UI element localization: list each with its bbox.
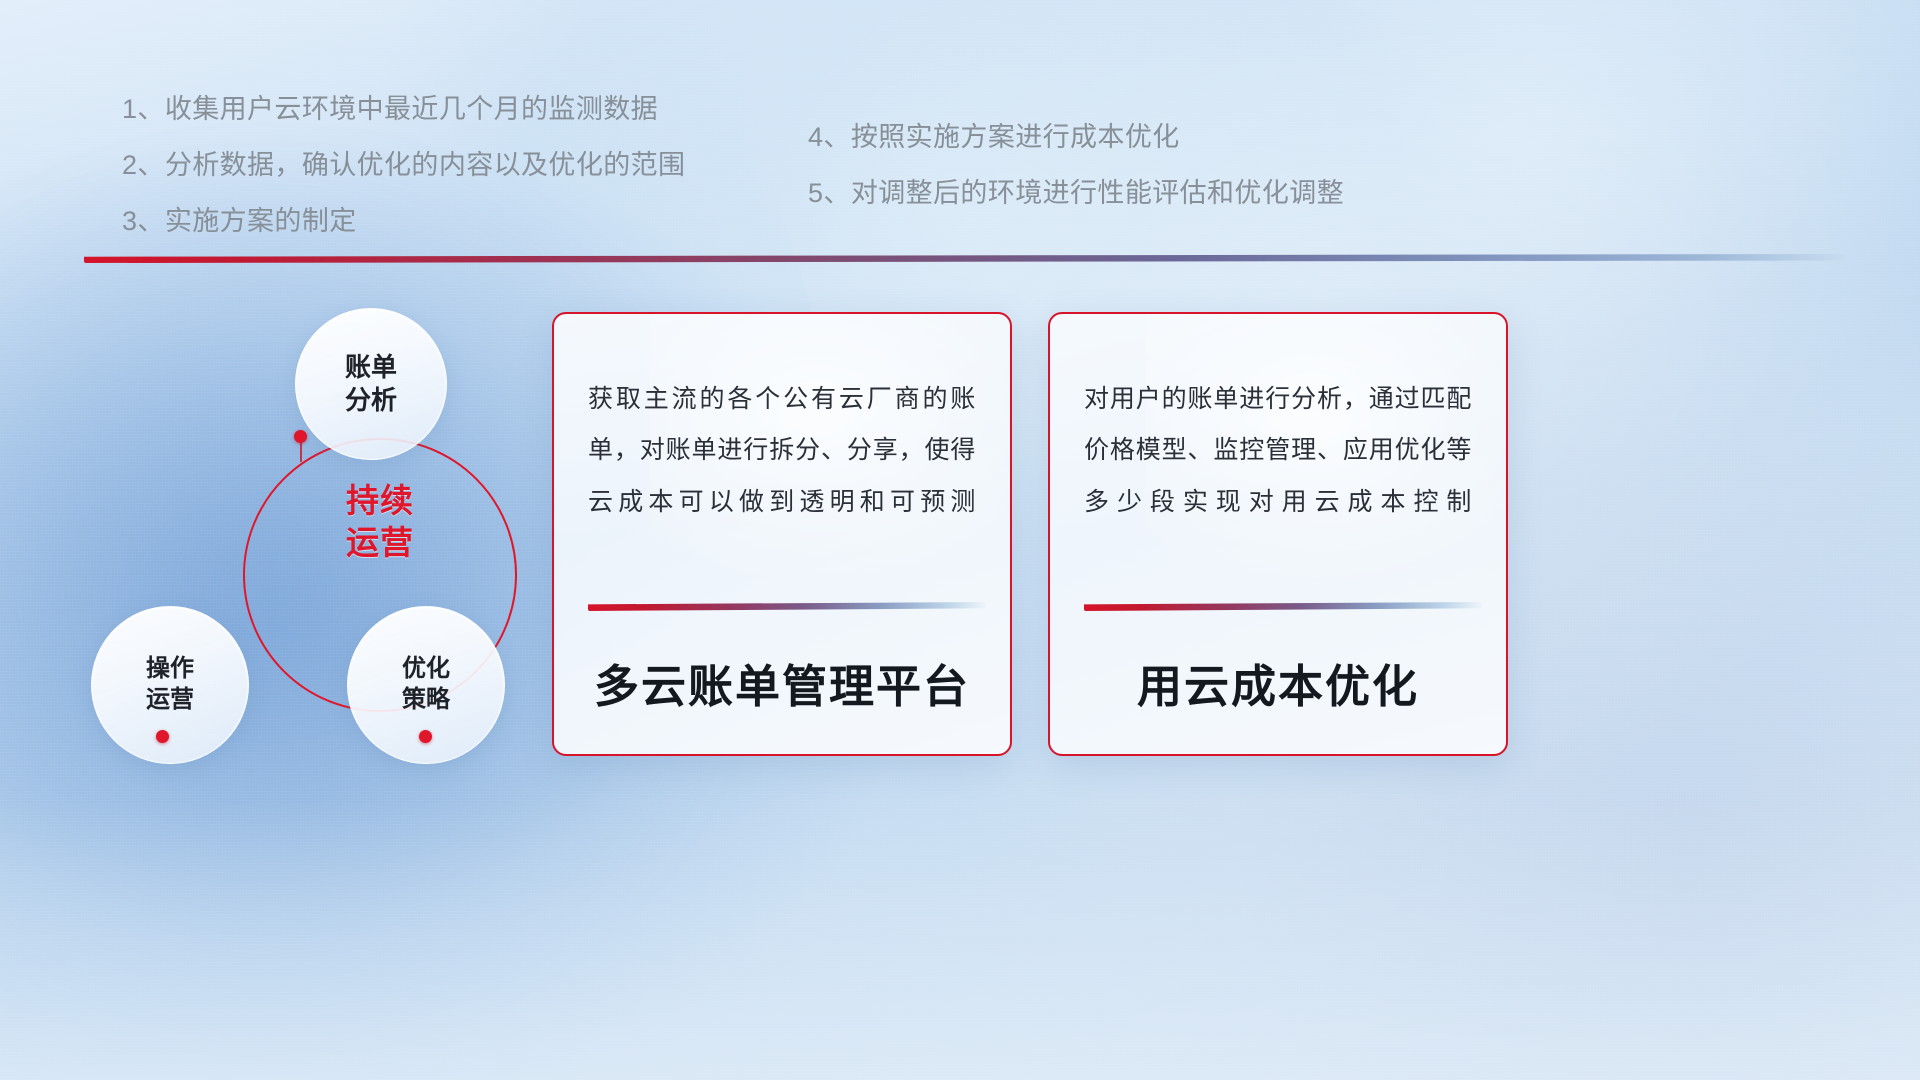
step-item: 3、实施方案的制定 [122, 208, 685, 235]
node-label-line-2: 运营 [146, 685, 194, 716]
node-label-line-1: 操作 [146, 654, 194, 685]
steps-list-left: 1、收集用户云环境中最近几个月的监测数据 2、分析数据，确认优化的内容以及优化的… [122, 96, 685, 264]
node-label-line-2: 策略 [402, 685, 450, 716]
diagram-dot-bottom-right [419, 730, 432, 743]
diagram-center-label: 持续 运营 [243, 480, 517, 564]
diagram-node-bill-analysis[interactable]: 账单 分析 [295, 308, 447, 460]
node-label-line-1: 优化 [402, 654, 450, 685]
diagram-node-operations[interactable]: 操作 运营 [91, 606, 249, 764]
node-label-line-1: 账单 [345, 351, 397, 384]
continuous-operation-diagram: 持续 运营 账单 分析 操作 运营 优化 策略 [80, 290, 550, 770]
step-item: 2、分析数据，确认优化的内容以及优化的范围 [122, 152, 685, 179]
step-item: 5、对调整后的环境进行性能评估和优化调整 [808, 180, 1344, 207]
diagram-connector-top [300, 440, 302, 462]
step-item: 1、收集用户云环境中最近几个月的监测数据 [122, 96, 685, 123]
center-label-line-1: 持续 [243, 480, 517, 522]
steps-list-right: 4、按照实施方案进行成本优化 5、对调整后的环境进行性能评估和优化调整 [808, 124, 1344, 236]
card-cloud-cost-optimization[interactable]: 对用户的账单进行分析，通过匹配价格模型、监控管理、应用优化等多少段实现对用云成本… [1048, 312, 1508, 756]
step-item: 4、按照实施方案进行成本优化 [808, 124, 1344, 151]
diagram-dot-bottom-left [156, 730, 169, 743]
diagram-dot-top [294, 430, 307, 443]
card-title: 用云成本优化 [1050, 650, 1506, 715]
card-description: 获取主流的各个公有云厂商的账单，对账单进行拆分、分享，使得云成本可以做到透明和可… [588, 374, 976, 528]
center-label-line-2: 运营 [243, 522, 517, 564]
card-multicloud-billing-platform[interactable]: 获取主流的各个公有云厂商的账单，对账单进行拆分、分享，使得云成本可以做到透明和可… [552, 312, 1012, 756]
card-description: 对用户的账单进行分析，通过匹配价格模型、监控管理、应用优化等多少段实现对用云成本… [1084, 374, 1472, 528]
node-label-line-2: 分析 [345, 384, 397, 417]
card-title: 多云账单管理平台 [554, 650, 1010, 715]
